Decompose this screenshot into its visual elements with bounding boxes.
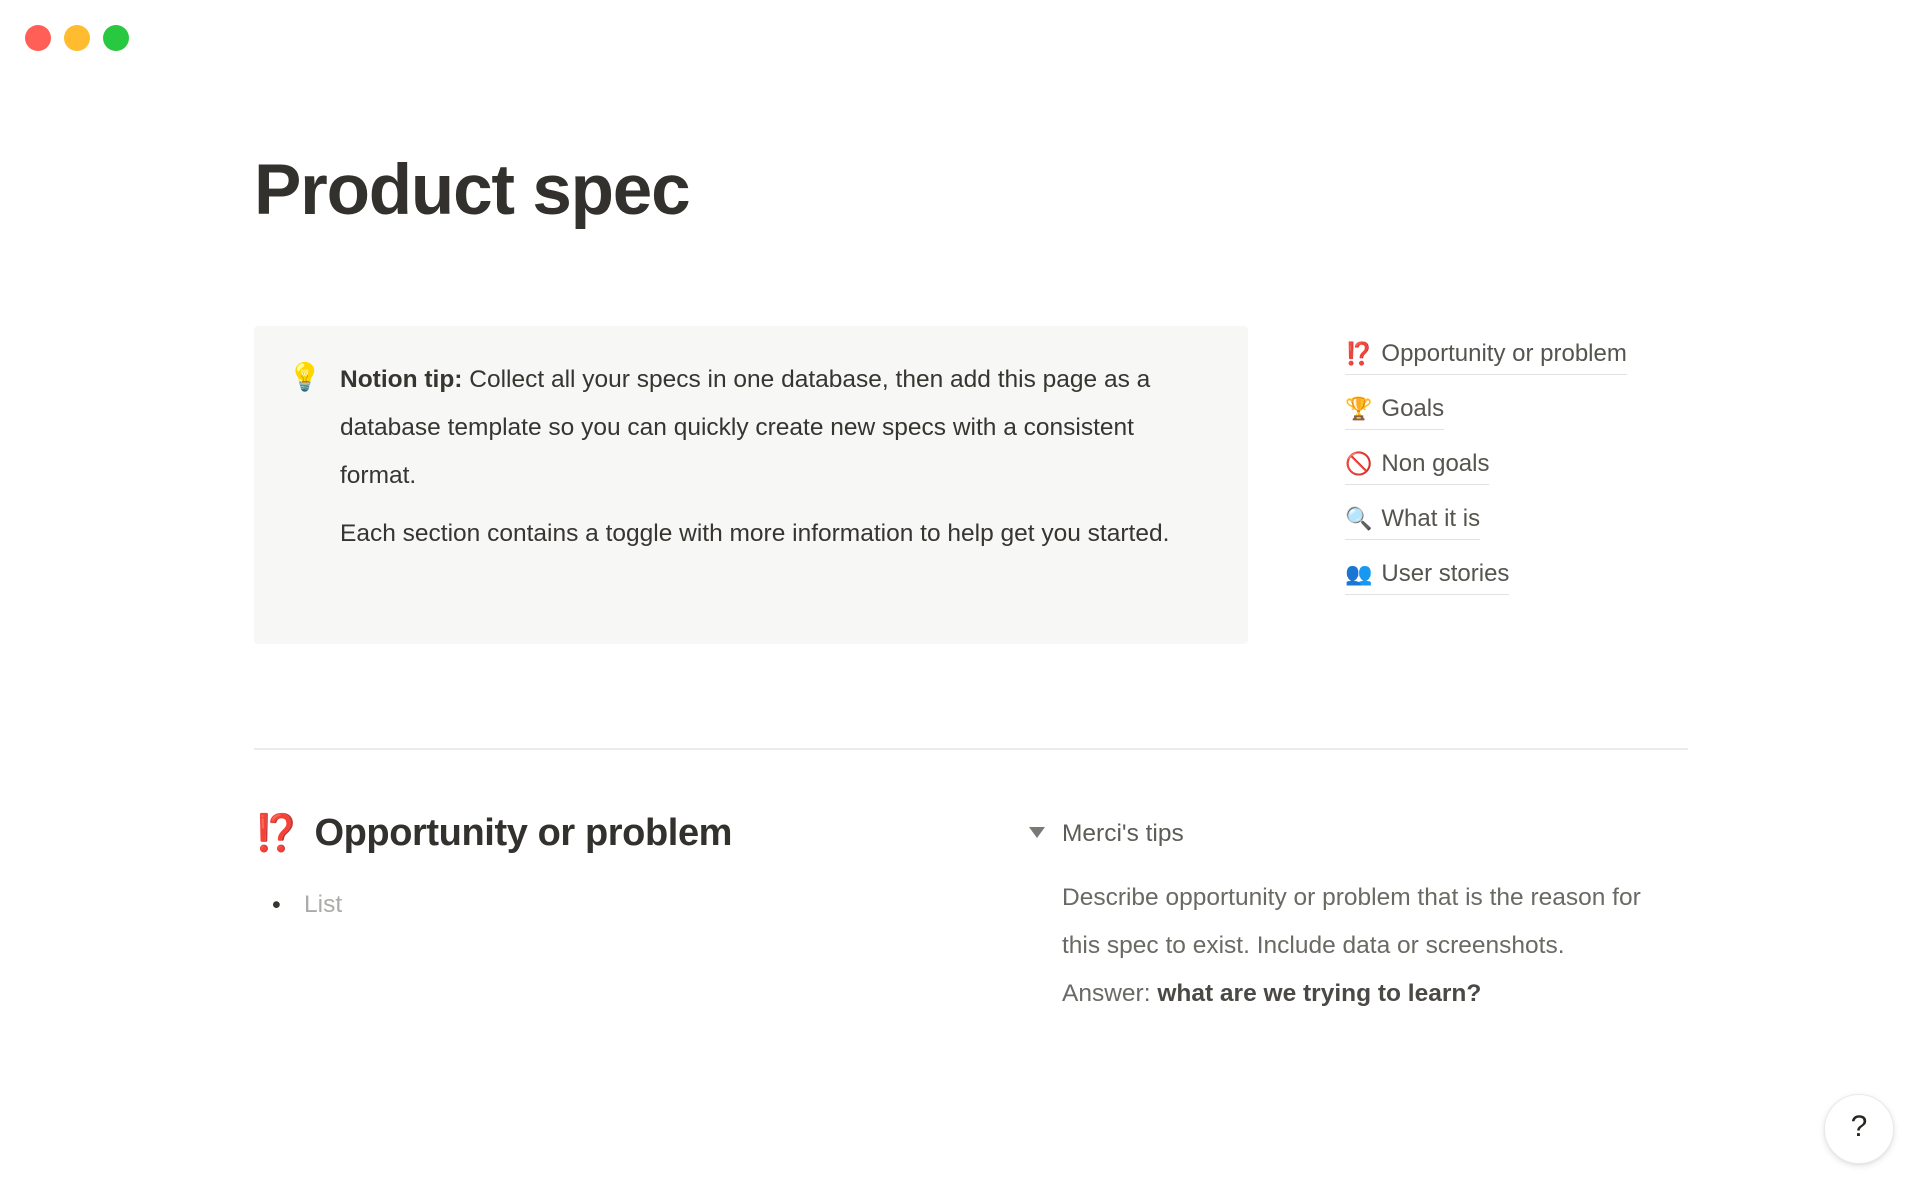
callout-paragraph-2: Each section contains a toggle with more… — [340, 510, 1214, 558]
busts-in-silhouette-emoji: 👥 — [1345, 562, 1372, 587]
exclamation-question-mark-emoji: ⁉️ — [1345, 342, 1372, 367]
table-of-contents: ⁉️Opportunity or problem 🏆Goals 🚫Non goa… — [1345, 336, 1685, 611]
toc-item-goals[interactable]: 🏆Goals — [1345, 391, 1444, 430]
toggle-content: Describe opportunity or problem that is … — [1026, 874, 1646, 1018]
callout-body: Notion tip: Collect all your specs in on… — [340, 354, 1214, 614]
trophy-emoji: 🏆 — [1345, 397, 1372, 422]
toc-item-label: Non goals — [1381, 450, 1489, 477]
section-heading-label: Opportunity or problem — [314, 812, 732, 854]
chevron-down-icon[interactable] — [1026, 810, 1062, 843]
toggle-header[interactable]: Merci's tips — [1026, 810, 1646, 858]
bullet-marker-icon: • — [258, 885, 304, 925]
toc-item-what-it-is[interactable]: 🔍What it is — [1345, 501, 1480, 540]
callout-paragraph-1-bold: Notion tip: — [340, 366, 462, 393]
prohibited-emoji: 🚫 — [1345, 452, 1372, 477]
magnifying-glass-emoji: 🔍 — [1345, 507, 1372, 532]
section-divider — [254, 748, 1688, 750]
help-button[interactable]: ? — [1824, 1094, 1894, 1164]
toc-item-label: Opportunity or problem — [1381, 340, 1626, 367]
toc-item-opportunity-or-problem[interactable]: ⁉️Opportunity or problem — [1345, 336, 1627, 375]
question-mark-icon: ? — [1851, 1112, 1868, 1142]
toc-item-label: Goals — [1381, 395, 1444, 422]
exclamation-question-mark-emoji: ⁉️ — [254, 813, 298, 854]
bulleted-list: • List — [258, 885, 858, 925]
toc-item-user-stories[interactable]: 👥User stories — [1345, 556, 1509, 595]
app-window: Product spec 💡 Notion tip: Collect all y… — [0, 0, 1920, 1200]
toggle-body-text: Describe opportunity or problem that is … — [1062, 874, 1646, 1018]
callout-paragraph-1-rest: Collect all your specs in one database, … — [340, 366, 1150, 489]
list-item[interactable]: • List — [258, 885, 858, 925]
list-item-placeholder[interactable]: List — [304, 885, 342, 925]
toc-item-non-goals[interactable]: 🚫Non goals — [1345, 446, 1489, 485]
page-content: Product spec 💡 Notion tip: Collect all y… — [0, 0, 1920, 1200]
section-heading-opportunity-or-problem: ⁉️Opportunity or problem — [254, 812, 732, 855]
toggle-body-bold: what are we trying to learn? — [1157, 980, 1481, 1007]
toc-item-label: What it is — [1381, 505, 1480, 532]
notion-tip-callout[interactable]: 💡 Notion tip: Collect all your specs in … — [254, 326, 1248, 644]
callout-paragraph-1: Notion tip: Collect all your specs in on… — [340, 356, 1214, 500]
page-title: Product spec — [254, 150, 689, 232]
toggle-block-mercis-tips: Merci's tips Describe opportunity or pro… — [1026, 810, 1646, 1018]
toggle-title: Merci's tips — [1062, 810, 1184, 858]
light-bulb-emoji: 💡 — [288, 354, 340, 614]
toc-item-label: User stories — [1381, 560, 1509, 587]
